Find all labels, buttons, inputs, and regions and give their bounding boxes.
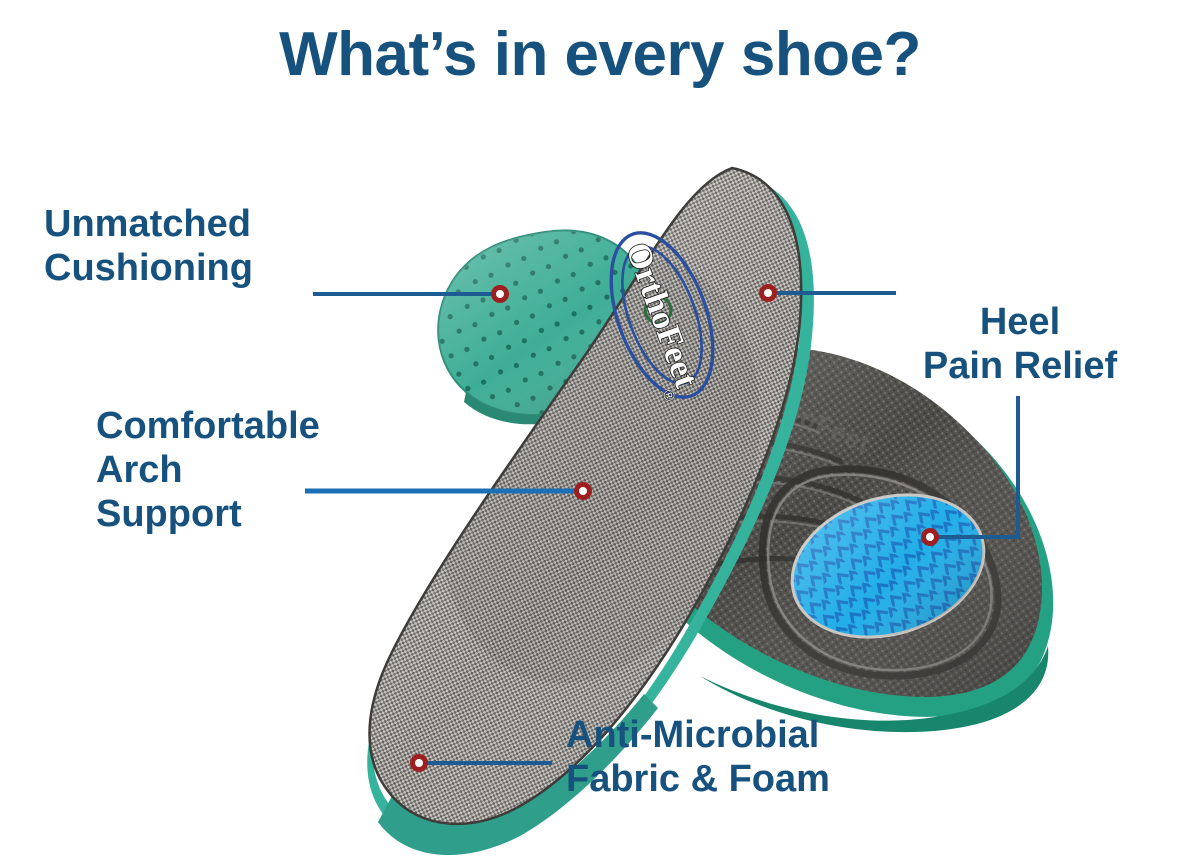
callout-label-arch-support: Comfortable Arch Support — [96, 404, 320, 536]
callout-label-cushioning: Unmatched Cushioning — [44, 202, 253, 290]
infographic-canvas: What’s in every shoe? — [0, 0, 1200, 857]
callout-label-anti-microbial: Anti-Microbial Fabric & Foam — [566, 713, 830, 801]
callout-label-heel-pain-relief: Heel Pain Relief — [860, 300, 1180, 388]
